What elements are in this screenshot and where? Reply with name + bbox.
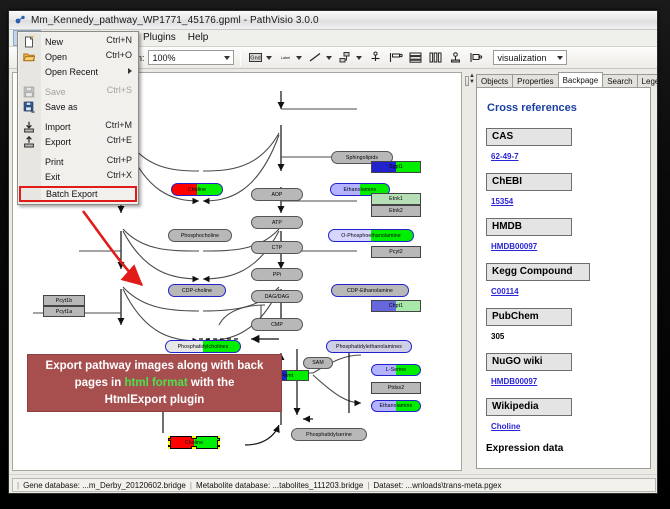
menu-item-exit[interactable]: Exit Ctrl+X: [18, 169, 138, 184]
callout-line-1: Export pathway images along with back: [46, 358, 264, 375]
interaction-tool-button[interactable]: [337, 49, 354, 66]
menu-item-open[interactable]: Open Ctrl+O: [18, 49, 138, 64]
menu-item-exit-accel: Ctrl+X: [107, 170, 132, 180]
menu-item-save-as[interactable]: Save as: [18, 99, 138, 114]
metabolite-cdp-choline[interactable]: CDP-choline: [168, 284, 226, 297]
xref-value-wikipedia[interactable]: Choline: [491, 422, 520, 431]
toolbar-separator: [240, 50, 241, 66]
open-folder-icon: [22, 50, 36, 63]
callout-line-2-prefix: pages in: [75, 377, 125, 389]
gene-sgpl1[interactable]: Sgpl1: [371, 161, 421, 173]
chevron-down-icon: [557, 56, 563, 60]
node-label: Ptdss2: [371, 382, 421, 394]
node-label: O-Phosphoethanolamine: [328, 229, 414, 242]
chevron-down-icon: [224, 56, 230, 60]
xref-value-cas[interactable]: 62-49-7: [491, 152, 519, 161]
node-label: CDP-choline: [168, 284, 226, 297]
side-panel: ▲▼ Objects Properties Backpage Search Le…: [469, 72, 655, 471]
node-label: Choline: [171, 183, 223, 196]
menu-item-export[interactable]: Export Ctrl+E: [18, 134, 138, 149]
visualization-combo[interactable]: visualization: [493, 50, 567, 65]
selection-handle[interactable]: [191, 436, 197, 439]
line-tool-chevron-icon[interactable]: [326, 56, 332, 60]
node-label: Phosphatidylserine: [291, 428, 367, 441]
menu-item-open-label: Open: [45, 52, 67, 62]
callout-line-2: pages in html format with the: [75, 375, 235, 392]
xref-block-nugo: NuGO wiki HMDB00097: [486, 353, 641, 389]
node-label: Pcyt1a: [43, 306, 85, 317]
menu-item-save-as-label: Save as: [45, 102, 78, 112]
status-bar-inner: | Gene database: ...m_Derby_20120602.bri…: [12, 478, 656, 492]
node-label: ADP: [251, 188, 303, 201]
status-separator: |: [363, 481, 373, 490]
new-document-icon: [22, 35, 36, 48]
metabolite-phosphocholine[interactable]: Phosphocholine: [168, 229, 232, 242]
status-bar: | Gene database: ...m_Derby_20120602.bri…: [9, 474, 658, 494]
selection-handle[interactable]: [168, 446, 171, 449]
node-label: Phosphatidylethanolamines: [326, 340, 412, 353]
metabolite-ethanolamine-right[interactable]: Ethanolamine: [371, 400, 421, 412]
import-icon: [22, 120, 36, 133]
metabolite-cdp-ethanolamine[interactable]: CDP-Ethanolamine: [331, 284, 409, 297]
node-label: L-Serine: [371, 364, 421, 376]
xref-block-pubchem: PubChem 305: [486, 308, 641, 344]
menu-plugins[interactable]: Plugins: [137, 30, 182, 46]
gene-tool-chevron-icon[interactable]: [266, 56, 272, 60]
selection-handle[interactable]: [217, 446, 220, 449]
xref-value-nugo[interactable]: HMDB00097: [491, 377, 537, 386]
node-label: SAM: [303, 357, 333, 369]
menu-item-open-recent[interactable]: Open Recent: [18, 64, 138, 79]
xref-value-pubchem: 305: [491, 332, 504, 341]
node-label: CTP: [251, 241, 303, 254]
gene-chpt1[interactable]: Chpt1: [371, 300, 421, 312]
xref-source-cas: CAS: [486, 128, 572, 146]
svg-text:Label: Label: [280, 56, 289, 60]
metabolite-cmp[interactable]: CMP: [251, 318, 303, 331]
selection-handle[interactable]: [191, 446, 197, 449]
menu-item-print[interactable]: Print Ctrl+P: [18, 154, 138, 169]
save-as-icon: [22, 100, 36, 113]
xref-source-nugo: NuGO wiki: [486, 353, 572, 371]
menu-item-exit-label: Exit: [45, 172, 60, 182]
menu-item-save-accel: Ctrl+S: [107, 85, 132, 95]
status-separator: |: [186, 481, 196, 490]
node-label: PPi: [251, 268, 303, 281]
node-label: Phosphatidylcholines: [165, 340, 241, 353]
selection-handle[interactable]: [168, 440, 171, 446]
xref-source-wikipedia: Wikipedia: [486, 398, 572, 416]
node-label: Etnk1: [371, 193, 421, 205]
metabolite-phosphatidylserine[interactable]: Phosphatidylserine: [291, 428, 367, 441]
menu-help[interactable]: Help: [182, 30, 215, 46]
menu-item-export-label: Export: [45, 137, 71, 147]
gene-pcyt1a[interactable]: Pcyt1a: [43, 306, 85, 317]
metabolite-sam[interactable]: SAM: [303, 357, 333, 369]
gene-product-tool-button[interactable]: Gnd: [247, 49, 264, 66]
node-label: Sgpl1: [371, 161, 421, 173]
tab-legend[interactable]: Legend: [637, 74, 658, 87]
side-panel-tabstrip: ▲▼ Objects Properties Backpage Search Le…: [469, 72, 655, 87]
xref-block-chebi: ChEBI 15354: [486, 173, 641, 209]
status-gene-database: Gene database: ...m_Derby_20120602.bridg…: [23, 481, 186, 490]
xref-source-kegg: Kegg Compound: [486, 263, 590, 281]
metabolite-ppi[interactable]: PPi: [251, 268, 303, 281]
gene-ptdss2[interactable]: Ptdss2: [371, 382, 421, 394]
tab-scroll-arrows-icon[interactable]: ▲▼: [469, 73, 475, 86]
visualization-value: visualization: [498, 53, 547, 63]
status-separator: |: [13, 481, 23, 490]
status-metabolite-database: Metabolite database: ...tabolites_111203…: [196, 481, 363, 490]
metabolite-dag-dag[interactable]: DAG/DAG: [251, 290, 303, 303]
gene-pcyt1b[interactable]: Pcyt1b: [43, 295, 85, 306]
xref-value-kegg[interactable]: C00114: [491, 287, 519, 296]
align-tool-button[interactable]: [387, 49, 404, 66]
group-tool-button[interactable]: [447, 49, 464, 66]
menu-item-new-accel: Ctrl+N: [106, 35, 132, 45]
node-label: Pcyt1b: [43, 295, 85, 306]
submenu-arrow-icon: [128, 68, 132, 74]
metabolite-ctp[interactable]: CTP: [251, 241, 303, 254]
tab-objects[interactable]: Objects: [476, 74, 513, 87]
tab-backpage[interactable]: Backpage: [558, 72, 604, 87]
menu-item-new-label: New: [45, 37, 63, 47]
metabolite-adp[interactable]: ADP: [251, 188, 303, 201]
metabolite-o-phosphoethanolamine[interactable]: O-Phosphoethanolamine: [328, 229, 414, 242]
tab-properties[interactable]: Properties: [512, 74, 558, 87]
metabolite-choline-top[interactable]: Choline: [171, 183, 223, 196]
node-label: Etnk2: [371, 205, 421, 217]
xref-value-chebi[interactable]: 15354: [491, 197, 513, 206]
node-label: DAG/DAG: [251, 290, 303, 303]
xref-block-hmdb: HMDB HMDB00097: [486, 218, 641, 254]
anchor-tool-button[interactable]: [367, 49, 384, 66]
metabolite-choline-selected[interactable]: Choline: [168, 436, 220, 449]
node-label: Chpt1: [371, 300, 421, 312]
menu-item-open-accel: Ctrl+O: [106, 50, 132, 60]
menu-item-batch-export-label: Batch Export: [46, 189, 98, 199]
save-disk-icon: [22, 85, 36, 98]
gene-etnk2[interactable]: Etnk2: [371, 205, 421, 217]
line-tool-button[interactable]: [307, 49, 324, 66]
cross-references-heading: Cross references: [487, 102, 641, 114]
interaction-tool-chevron-icon[interactable]: [356, 56, 362, 60]
pathvisio-window: Mm_Kennedy_pathway_WP1771_45176.gpml - P…: [8, 10, 658, 494]
xref-block-kegg: Kegg Compound C00114: [486, 263, 641, 299]
node-label: Phosphocholine: [168, 229, 232, 242]
menu-item-import[interactable]: Import Ctrl+M: [18, 119, 138, 134]
menu-item-save-label: Save: [45, 87, 66, 97]
selection-handle[interactable]: [217, 440, 220, 446]
file-menu-dropdown[interactable]: New Ctrl+N Open Ctrl+O Open Recent: [17, 31, 139, 205]
callout-highlight: html format: [124, 377, 187, 389]
node-label: CDP-Ethanolamine: [331, 284, 409, 297]
metabolite-phosphatidylcholines[interactable]: Phosphatidylcholines: [165, 340, 241, 353]
order-tool-button[interactable]: [467, 49, 484, 66]
xref-source-chebi: ChEBI: [486, 173, 572, 191]
tab-search[interactable]: Search: [602, 74, 637, 87]
stack-tool-button[interactable]: [407, 49, 424, 66]
svg-text:Gnd: Gnd: [250, 56, 260, 62]
menu-item-batch-export[interactable]: Batch Export: [19, 186, 137, 202]
xref-value-hmdb[interactable]: HMDB00097: [491, 242, 537, 251]
zoom-combo[interactable]: 100%: [148, 50, 234, 65]
xref-block-cas: CAS 62-49-7: [486, 128, 641, 164]
xref-source-pubchem: PubChem: [486, 308, 572, 326]
node-label: ATP: [251, 216, 303, 229]
menu-item-open-recent-label: Open Recent: [45, 67, 98, 77]
node-label: Pcyt2: [371, 246, 421, 258]
menu-item-import-accel: Ctrl+M: [105, 120, 132, 130]
pathvisio-icon: [14, 14, 26, 26]
menu-item-print-label: Print: [45, 157, 64, 167]
gene-pcyt2[interactable]: Pcyt2: [371, 246, 421, 258]
window-title: Mm_Kennedy_pathway_WP1771_45176.gpml - P…: [31, 15, 319, 26]
node-label: CMP: [251, 318, 303, 331]
zoom-value: 100%: [153, 53, 176, 63]
label-tool-chevron-icon[interactable]: [296, 56, 302, 60]
menu-item-print-accel: Ctrl+P: [107, 155, 132, 165]
export-icon: [22, 135, 36, 148]
menu-item-import-label: Import: [45, 122, 71, 132]
expression-data-heading: Expression data: [486, 443, 641, 454]
annotation-callout: Export pathway images along with back pa…: [27, 354, 282, 412]
callout-line-2-suffix: with the: [188, 377, 235, 389]
metabolite-phosphatidylethanolamines[interactable]: Phosphatidylethanolamines: [326, 340, 412, 353]
menu-item-save: Save Ctrl+S: [18, 84, 138, 99]
node-label: Ethanolamine: [371, 400, 421, 412]
status-dataset: Dataset: ...wnloads\trans-meta.pgex: [373, 481, 501, 490]
xref-source-hmdb: HMDB: [486, 218, 572, 236]
label-tool-button[interactable]: Label: [277, 49, 294, 66]
window-titlebar: Mm_Kennedy_pathway_WP1771_45176.gpml - P…: [9, 11, 657, 30]
backpage-content[interactable]: Cross references CAS 62-49-7 ChEBI 15354…: [476, 87, 651, 469]
xref-block-wikipedia: Wikipedia Choline: [486, 398, 641, 434]
distribute-tool-button[interactable]: [427, 49, 444, 66]
menu-item-export-accel: Ctrl+E: [107, 135, 132, 145]
gene-etnk1[interactable]: Etnk1: [371, 193, 421, 205]
metabolite-atp[interactable]: ATP: [251, 216, 303, 229]
callout-line-3: HtmlExport plugin: [105, 392, 205, 409]
screenshot-root: Mm_Kennedy_pathway_WP1771_45176.gpml - P…: [0, 0, 670, 509]
menu-item-new[interactable]: New Ctrl+N: [18, 34, 138, 49]
metabolite-l-serine[interactable]: L-Serine: [371, 364, 421, 376]
